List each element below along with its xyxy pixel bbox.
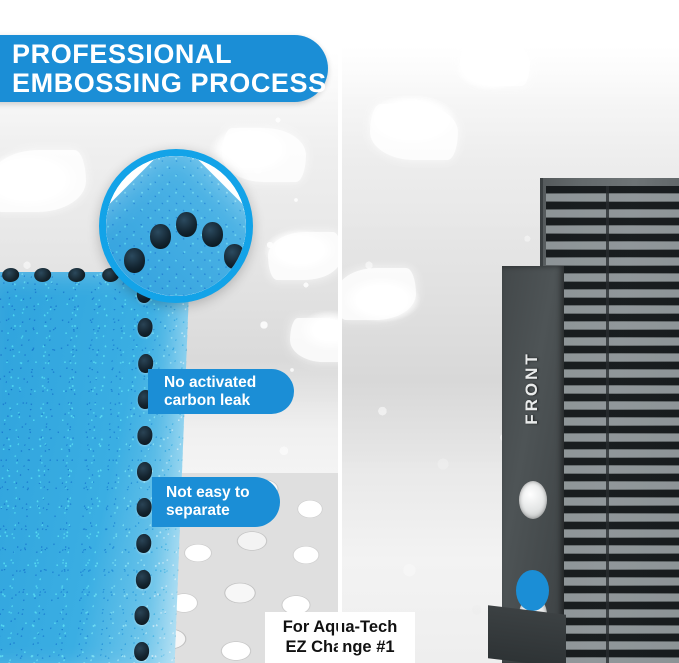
front-orientation-label: FRONT (522, 342, 542, 434)
title-line: EMBOSSING PROCESS (12, 68, 327, 98)
cartridge-foot (488, 605, 566, 663)
fish-silhouette (0, 150, 86, 212)
bubbles (230, 60, 338, 480)
magnifier-embossed-foam (99, 149, 253, 303)
filter-foam-pad (0, 272, 190, 663)
callout-no-carbon-leak: No activated carbon leak (148, 369, 294, 414)
title-banner-left: PROFESSIONAL EMBOSSING PROCESS (0, 35, 328, 102)
fish-silhouette (342, 268, 416, 320)
fish-silhouette (370, 104, 458, 160)
rail-hole (519, 481, 547, 519)
callout-line: Not easy to (166, 484, 250, 501)
panel-right-grid-design: FRONT Close contact Easy to penetrate GR… (342, 0, 679, 663)
title-line: PROFESSIONAL (12, 39, 232, 69)
cartridge-louvre-slots (546, 186, 679, 663)
product-infographic: No activated carbon leak Not easy to sep… (0, 0, 679, 663)
cartridge-front-rail: FRONT (502, 266, 564, 663)
callout-line: carbon leak (164, 392, 250, 409)
callout-not-easy-to-separate: Not easy to separate (152, 477, 280, 527)
fish-silhouette (460, 40, 530, 86)
blue-accent-dot (516, 570, 549, 611)
foam-texture (0, 272, 190, 663)
panel-divider (338, 0, 342, 663)
panel-left-embossing: No activated carbon leak Not easy to sep… (0, 0, 338, 663)
callout-line: No activated (164, 374, 256, 391)
filter-cartridge: FRONT (502, 178, 679, 663)
callout-line: separate (166, 502, 230, 519)
